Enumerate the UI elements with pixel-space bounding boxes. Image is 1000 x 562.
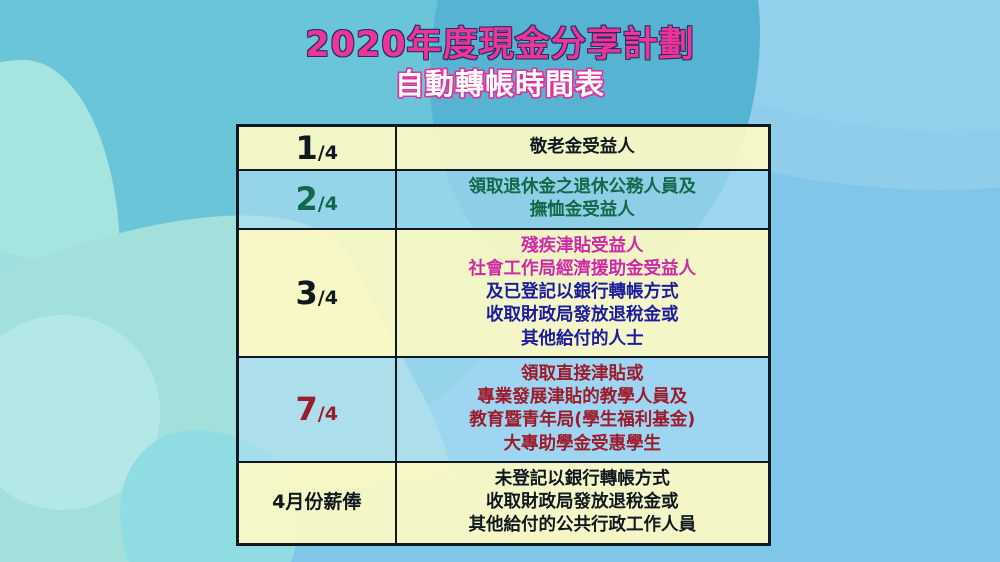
schedule-description-line: 收取財政局發放退稅金或 <box>401 304 765 327</box>
schedule-description-cell: 領取直接津貼或專業發展津貼的教學人員及教育暨青年局(學生福利基金)大專助學金受惠… <box>396 357 770 462</box>
schedule-date-month: /4 <box>318 193 338 215</box>
background-blob-mint-lower <box>0 250 110 550</box>
schedule-description-line: 領取退休金之退休公務人員及 <box>401 176 765 199</box>
schedule-description-line: 專業發展津貼的教學人員及 <box>401 386 765 409</box>
schedule-date-day: 2 <box>296 180 318 218</box>
schedule-description-line: 社會工作局經濟援助金受益人 <box>401 258 765 281</box>
schedule-description-line: 領取直接津貼或 <box>401 363 765 386</box>
title-block: 2020年度現金分享計劃 自動轉帳時間表 <box>0 26 1000 100</box>
table-row: 4月份薪俸未登記以銀行轉帳方式收取財政局發放退稅金或其他給付的公共行政工作人員 <box>238 462 770 544</box>
schedule-date-day: 3 <box>296 274 318 312</box>
schedule-date-month: /4 <box>318 403 338 425</box>
schedule-description-cell: 未登記以銀行轉帳方式收取財政局發放退稅金或其他給付的公共行政工作人員 <box>396 462 770 544</box>
schedule-description-line: 大專助學金受惠學生 <box>401 433 765 456</box>
schedule-date-cell: 3/4 <box>238 229 396 357</box>
schedule-description-cell: 敬老金受益人 <box>396 126 770 171</box>
schedule-description-line: 敬老金受益人 <box>401 136 765 159</box>
schedule-date-cell: 2/4 <box>238 170 396 229</box>
table-row: 7/4領取直接津貼或專業發展津貼的教學人員及教育暨青年局(學生福利基金)大專助學… <box>238 357 770 462</box>
schedule-date-text: 4月份薪俸 <box>272 491 361 513</box>
table-row: 2/4領取退休金之退休公務人員及撫恤金受益人 <box>238 170 770 229</box>
schedule-date-day: 7 <box>296 390 318 428</box>
schedule-date-month: /4 <box>318 142 338 164</box>
schedule-description-cell: 殘疾津貼受益人社會工作局經濟援助金受益人及已登記以銀行轉帳方式收取財政局發放退稅… <box>396 229 770 357</box>
payment-schedule-table: 1/4敬老金受益人2/4領取退休金之退休公務人員及撫恤金受益人3/4殘疾津貼受益… <box>236 124 771 546</box>
schedule-description-line: 教育暨青年局(學生福利基金) <box>401 409 765 432</box>
schedule-date-cell: 4月份薪俸 <box>238 462 396 544</box>
schedule-description-line: 撫恤金受益人 <box>401 199 765 222</box>
schedule-date-day: 1 <box>296 129 318 167</box>
schedule-description-line: 收取財政局發放退稅金或 <box>401 491 765 514</box>
table-row: 3/4殘疾津貼受益人社會工作局經濟援助金受益人及已登記以銀行轉帳方式收取財政局發… <box>238 229 770 357</box>
schedule-description-line: 未登記以銀行轉帳方式 <box>401 468 765 491</box>
schedule-date-cell: 7/4 <box>238 357 396 462</box>
page-title: 2020年度現金分享計劃 <box>0 26 1000 65</box>
schedule-description-line: 其他給付的公共行政工作人員 <box>401 514 765 537</box>
schedule-date-month: /4 <box>318 287 338 309</box>
slide-canvas: 2020年度現金分享計劃 自動轉帳時間表 1/4敬老金受益人2/4領取退休金之退… <box>0 0 1000 562</box>
page-subtitle: 自動轉帳時間表 <box>0 69 1000 101</box>
schedule-description-line: 其他給付的人士 <box>401 328 765 351</box>
schedule-description-line: 殘疾津貼受益人 <box>401 235 765 258</box>
schedule-date-cell: 1/4 <box>238 126 396 171</box>
background-blob-mint-upper <box>0 60 120 390</box>
schedule-table-body: 1/4敬老金受益人2/4領取退休金之退休公務人員及撫恤金受益人3/4殘疾津貼受益… <box>238 126 770 545</box>
background-blob-mint-circle <box>0 315 160 510</box>
schedule-description-line: 及已登記以銀行轉帳方式 <box>401 281 765 304</box>
schedule-description-cell: 領取退休金之退休公務人員及撫恤金受益人 <box>396 170 770 229</box>
table-row: 1/4敬老金受益人 <box>238 126 770 171</box>
